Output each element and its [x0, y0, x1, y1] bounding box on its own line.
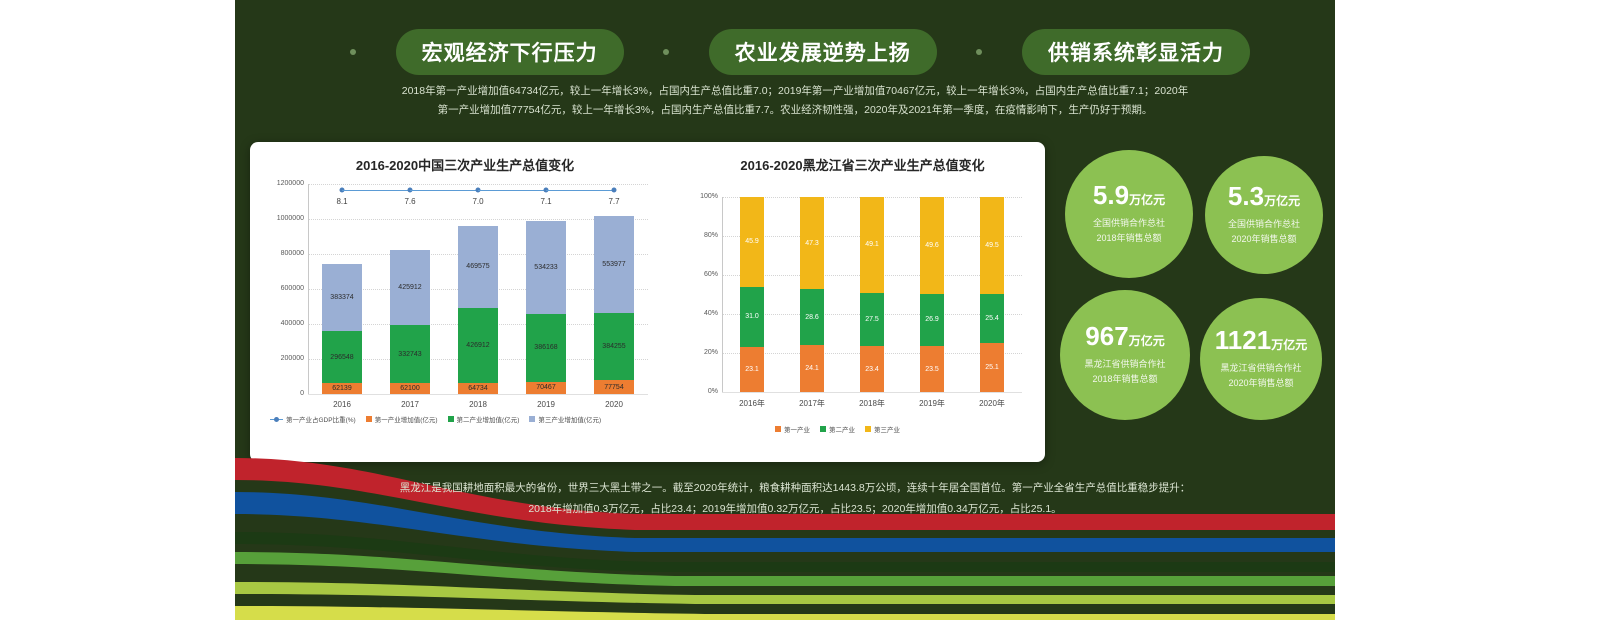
bar-value-label: 31.0 [740, 312, 764, 321]
bar-stack[interactable]: 64734426912469575 [458, 184, 497, 394]
bar-value-label: 426912 [458, 341, 497, 350]
bar-stack[interactable]: 62139296548383374 [322, 184, 361, 394]
stat-subtitle-1: 黑龙江省供销合作社 [1084, 357, 1165, 372]
bar-value-label: 23.1 [740, 365, 764, 374]
line-segment [342, 190, 410, 191]
chart-china-gdp: 2016-2020中国三次产业生产总值变化 020000040000060000… [250, 142, 680, 462]
stat-circle-headline: 5.3万亿元 [1228, 183, 1300, 210]
stat-circle-headline: 967万亿元 [1085, 323, 1164, 350]
bar-value-label: 296548 [322, 353, 361, 362]
x-axis-tick-label: 2017 [376, 400, 444, 409]
bar-value-label: 24.1 [800, 364, 824, 373]
top-paragraph: 2018年第一产业增加值64734亿元，较上一年增长3%，占国内生产总值比重7.… [335, 82, 1255, 120]
bar-value-label: 383374 [322, 293, 361, 302]
top-paragraph-line-1: 2018年第一产业增加值64734亿元，较上一年增长3%，占国内生产总值比重7.… [335, 82, 1255, 101]
bar-value-label: 28.6 [800, 313, 824, 322]
line-segment [546, 190, 614, 191]
stat-subtitle-2: 2020年销售总额 [1228, 376, 1293, 391]
bar-value-label: 469575 [458, 262, 497, 271]
charts-card: 2016-2020中国三次产业生产总值变化 020000040000060000… [250, 142, 1045, 462]
bar-value-label: 553977 [594, 260, 633, 269]
y-axis-tick-label: 100% [700, 193, 718, 200]
line-value-label: 7.0 [472, 197, 483, 206]
bottom-paragraph-line-2: 2018年增加值0.3万亿元，占比23.4；2019年增加值0.32万亿元，占比… [330, 499, 1260, 520]
y-axis-line [308, 184, 309, 394]
bar-value-label: 62100 [390, 384, 429, 393]
line-value-label: 7.6 [404, 197, 415, 206]
plot-area-right: 0%20%40%60%80%100%23.131.045.92016年24.12… [722, 197, 1022, 392]
bar-stack[interactable]: 24.128.647.3 [800, 197, 824, 392]
y-axis-tick-label: 20% [704, 349, 718, 356]
bar-value-label: 62139 [322, 384, 361, 393]
y-axis-tick-label: 1200000 [277, 180, 304, 187]
bar-stack[interactable]: 23.526.949.6 [920, 197, 944, 392]
decorative-ribbons [235, 420, 1335, 620]
bar-value-label: 425912 [390, 283, 429, 292]
stat-subtitle-1: 全国供销合作总社 [1228, 217, 1300, 232]
y-axis-tick-label: 40% [704, 310, 718, 317]
gridline [722, 392, 1022, 393]
y-axis-tick-label: 60% [704, 271, 718, 278]
y-axis-line [722, 197, 723, 392]
line-segment [478, 190, 546, 191]
bottom-paragraph-line-1: 黑龙江是我国耕地面积最大的省份，世界三大黑土带之一。截至2020年统计，粮食耕种… [330, 478, 1260, 499]
top-paragraph-line-2: 第一产业增加值77754亿元，较上一年增长3%，占国内生产总值比重7.7。农业经… [335, 101, 1255, 120]
stat-value: 5.3 [1228, 181, 1264, 211]
stat-subtitle-2: 2018年销售总额 [1092, 372, 1157, 387]
chart-title-left: 2016-2020中国三次产业生产总值变化 [250, 155, 680, 174]
stat-circle-headline: 5.9万亿元 [1093, 182, 1165, 209]
bar-value-label: 386168 [526, 343, 565, 352]
bar-value-label: 45.9 [740, 237, 764, 246]
line-value-label: 8.1 [336, 197, 347, 206]
stat-value: 967 [1085, 321, 1128, 351]
slide-content: 宏观经济下行压力 农业发展逆势上扬 供销系统彰显活力 2018年第一产业增加值6… [235, 0, 1335, 620]
stat-circle-group: 5.9万亿元全国供销合作总社2018年销售总额5.3万亿元全国供销合作总社202… [1055, 150, 1320, 450]
x-axis-tick-label: 2018年 [842, 398, 902, 409]
stat-circle[interactable]: 1121万亿元黑龙江省供销合作社2020年销售总额 [1200, 298, 1322, 420]
slide-canvas: 宏观经济下行压力 农业发展逆势上扬 供销系统彰显活力 2018年第一产业增加值6… [0, 0, 1600, 620]
chart-title-right: 2016-2020黑龙江省三次产业生产总值变化 [680, 155, 1045, 174]
headline-pill-2[interactable]: 农业发展逆势上扬 [709, 29, 937, 75]
stat-circle[interactable]: 5.9万亿元全国供销合作总社2018年销售总额 [1065, 150, 1193, 278]
bar-value-label: 27.5 [860, 315, 884, 324]
plot-area-left: 0200000400000600000800000100000012000006… [308, 184, 648, 394]
pill-separator-dot [350, 49, 356, 55]
x-axis-tick-label: 2018 [444, 400, 512, 409]
x-axis-tick-label: 2016年 [722, 398, 782, 409]
x-axis-tick-label: 2019年 [902, 398, 962, 409]
x-axis-tick-label: 2019 [512, 400, 580, 409]
bar-value-label: 332743 [390, 350, 429, 359]
y-axis-tick-label: 400000 [281, 320, 304, 327]
stat-unit: 万亿元 [1271, 338, 1307, 352]
pill-separator-dot [976, 49, 982, 55]
pill-separator-dot [663, 49, 669, 55]
x-axis-tick-label: 2016 [308, 400, 376, 409]
y-axis-tick-label: 80% [704, 232, 718, 239]
bottom-paragraph: 黑龙江是我国耕地面积最大的省份，世界三大黑土带之一。截至2020年统计，粮食耕种… [330, 478, 1260, 520]
stat-circle[interactable]: 5.3万亿元全国供销合作总社2020年销售总额 [1205, 156, 1323, 274]
bar-stack[interactable]: 77754384255553977 [594, 184, 633, 394]
bar-value-label: 47.3 [800, 239, 824, 248]
x-axis-tick-label: 2017年 [782, 398, 842, 409]
stat-subtitle-1: 黑龙江省供销合作社 [1220, 361, 1301, 376]
headline-pill-1[interactable]: 宏观经济下行压力 [396, 29, 624, 75]
bar-value-label: 64734 [458, 384, 497, 393]
bar-value-label: 49.6 [920, 241, 944, 250]
x-axis-tick-label: 2020 [580, 400, 648, 409]
stat-value: 1121 [1215, 325, 1271, 355]
bar-value-label: 26.9 [920, 315, 944, 324]
bar-value-label: 23.4 [860, 365, 884, 374]
line-data-point[interactable] [612, 188, 617, 193]
bar-value-label: 25.1 [980, 363, 1004, 372]
x-axis-tick-label: 2020年 [962, 398, 1022, 409]
bar-value-label: 49.1 [860, 240, 884, 249]
headline-pill-row: 宏观经济下行压力 农业发展逆势上扬 供销系统彰显活力 [350, 28, 1250, 76]
line-value-label: 7.7 [608, 197, 619, 206]
stat-subtitle-1: 全国供销合作总社 [1093, 216, 1165, 231]
stat-circle-headline: 1121万亿元 [1215, 327, 1307, 354]
bar-stack[interactable]: 23.131.045.9 [740, 197, 764, 392]
y-axis-tick-label: 800000 [281, 250, 304, 257]
bar-stack[interactable]: 62100332743425912 [390, 184, 429, 394]
stat-subtitle-2: 2020年销售总额 [1231, 232, 1296, 247]
stat-unit: 万亿元 [1264, 194, 1300, 208]
line-segment [410, 190, 478, 191]
y-axis-tick-label: 0 [300, 390, 304, 397]
line-value-label: 7.1 [540, 197, 551, 206]
y-axis-tick-label: 1000000 [277, 215, 304, 222]
bar-value-label: 49.5 [980, 241, 1004, 250]
bar-value-label: 384255 [594, 342, 633, 351]
stat-unit: 万亿元 [1129, 193, 1165, 207]
bar-stack[interactable]: 23.427.549.1 [860, 197, 884, 392]
bar-value-label: 25.4 [980, 314, 1004, 323]
stat-value: 5.9 [1093, 180, 1129, 210]
chart-heilongjiang-share: 2016-2020黑龙江省三次产业生产总值变化 0%20%40%60%80%10… [680, 142, 1045, 462]
y-axis-tick-label: 0% [708, 388, 718, 395]
gridline [308, 394, 648, 395]
y-axis-tick-label: 600000 [281, 285, 304, 292]
stat-subtitle-2: 2018年销售总额 [1096, 231, 1161, 246]
bar-stack[interactable]: 70467386168534233 [526, 184, 565, 394]
stat-circle[interactable]: 967万亿元黑龙江省供销合作社2018年销售总额 [1060, 290, 1190, 420]
y-axis-tick-label: 200000 [281, 355, 304, 362]
headline-pill-3[interactable]: 供销系统彰显活力 [1022, 29, 1250, 75]
bar-stack[interactable]: 25.125.449.5 [980, 197, 1004, 392]
stat-unit: 万亿元 [1129, 334, 1165, 348]
bar-value-label: 534233 [526, 263, 565, 272]
bar-value-label: 70467 [526, 383, 565, 392]
bar-value-label: 23.5 [920, 365, 944, 374]
bar-value-label: 77754 [594, 383, 633, 392]
